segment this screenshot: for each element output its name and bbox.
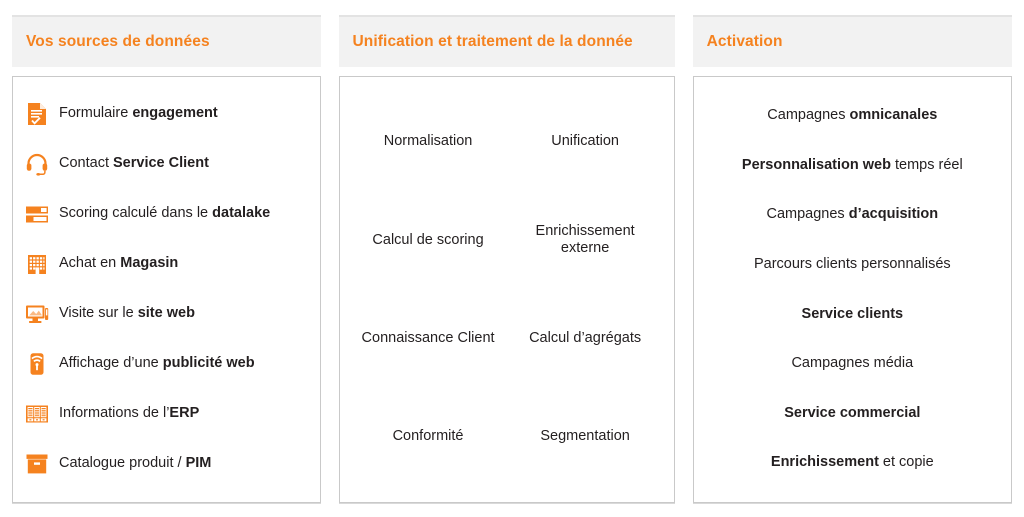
list-item[interactable]: Parcours clients personnalisés	[702, 240, 1003, 290]
list-item-label: Service clients	[802, 306, 904, 323]
column-activation-header: Activation	[693, 15, 1012, 67]
list-item-label: Contact Service Client	[59, 155, 209, 172]
list-item[interactable]: Affichage d’une publicité web	[24, 339, 312, 389]
process-cell[interactable]: Conformité	[389, 428, 468, 446]
document-check-icon	[24, 101, 50, 127]
process-cell[interactable]: Calcul de scoring	[368, 232, 487, 250]
list-item-label: Campagnes omnicanales	[767, 107, 937, 124]
column-sources-body: Formulaire engagement Contact Service Cl…	[12, 76, 321, 503]
column-activation-body: Campagnes omnicanales Personnalisation w…	[693, 76, 1012, 503]
list-item[interactable]: Personnalisation web temps réel	[702, 141, 1003, 191]
list-item-label: Parcours clients personnalisés	[754, 256, 951, 273]
list-item[interactable]: Campagnes média	[702, 339, 1003, 389]
list-item-label: Achat en Magasin	[59, 255, 178, 272]
building-store-icon	[24, 251, 50, 277]
column-processing-title: Unification et traitement de la donnée	[353, 33, 633, 51]
column-processing-body: Normalisation Unification Calcul de scor…	[339, 76, 675, 503]
list-item[interactable]: Service clients	[702, 290, 1003, 340]
list-item-label: Campagnes média	[791, 355, 913, 372]
list-item-label: Catalogue produit / PIM	[59, 455, 211, 472]
list-item-label: Campagnes d’acquisition	[767, 206, 939, 223]
mobile-wifi-icon	[24, 351, 50, 377]
source-list: Formulaire engagement Contact Service Cl…	[13, 77, 320, 502]
server-rack-icon	[24, 401, 50, 427]
process-cell[interactable]: Connaissance Client	[358, 330, 499, 348]
column-sources-title: Vos sources de données	[26, 33, 210, 51]
column-activation-title: Activation	[707, 33, 783, 51]
list-item-label: Service commercial	[784, 405, 920, 422]
list-item-label: Enrichissement et copie	[771, 454, 934, 471]
process-cell[interactable]: Segmentation	[536, 428, 633, 446]
column-processing-header: Unification et traitement de la donnée	[339, 15, 675, 67]
column-sources: Vos sources de données Fo	[12, 15, 321, 503]
process-grid: Normalisation Unification Calcul de scor…	[340, 77, 674, 502]
list-item[interactable]: Achat en Magasin	[24, 239, 312, 289]
list-item[interactable]: Service commercial	[702, 389, 1003, 439]
list-item[interactable]: Campagnes omnicanales	[702, 91, 1003, 141]
list-item[interactable]: Campagnes d’acquisition	[702, 190, 1003, 240]
list-item-label: Informations de l’ERP	[59, 405, 199, 422]
column-processing: Unification et traitement de la donnée N…	[339, 15, 675, 503]
list-item-label: Formulaire engagement	[59, 105, 218, 122]
activation-list: Campagnes omnicanales Personnalisation w…	[694, 77, 1011, 502]
list-item[interactable]: Catalogue produit / PIM	[24, 439, 312, 489]
product-box-icon	[24, 451, 50, 477]
column-sources-header: Vos sources de données	[12, 15, 321, 67]
list-item[interactable]: Contact Service Client	[24, 139, 312, 189]
list-item-label: Personnalisation web temps réel	[742, 157, 963, 174]
list-item[interactable]: Informations de l’ERP	[24, 389, 312, 439]
list-item-label: Visite sur le site web	[59, 305, 195, 322]
process-cell[interactable]: Calcul d’agrégats	[525, 330, 645, 348]
list-item[interactable]: Visite sur le site web	[24, 289, 312, 339]
headset-icon	[24, 151, 50, 177]
list-item[interactable]: Enrichissement et copie	[702, 438, 1003, 488]
list-item-label: Affichage d’une publicité web	[59, 355, 255, 372]
process-cell[interactable]: Normalisation	[380, 133, 477, 151]
list-item-label: Scoring calculé dans le datalake	[59, 205, 270, 222]
three-column-board: Vos sources de données Fo	[0, 0, 1024, 517]
process-cell[interactable]: Enrichissement externe	[507, 223, 664, 258]
progress-bars-icon	[24, 201, 50, 227]
list-item[interactable]: Scoring calculé dans le datalake	[24, 189, 312, 239]
process-cell[interactable]: Unification	[547, 133, 623, 151]
list-item[interactable]: Formulaire engagement	[24, 89, 312, 139]
desktop-monitor-icon	[24, 301, 50, 327]
column-activation: Activation Campagnes omnicanales Personn…	[693, 15, 1012, 503]
